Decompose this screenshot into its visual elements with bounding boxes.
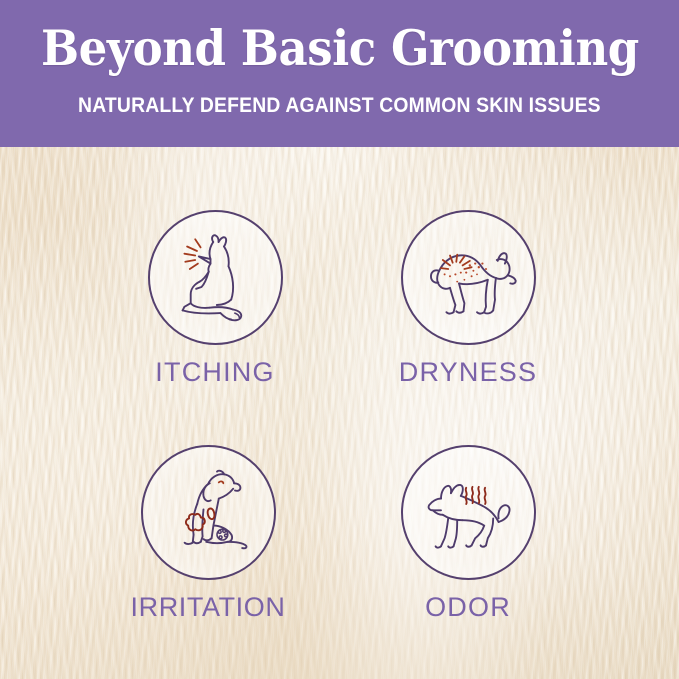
feature-item-irritation: IRRITATION	[88, 445, 328, 621]
icon-badge-irritation	[141, 445, 276, 580]
icon-badge-odor	[401, 445, 536, 580]
feature-item-itching: ITCHING	[95, 210, 335, 386]
feature-grid: ITCHING	[0, 147, 679, 679]
dog-irritated-skin-icon	[154, 459, 262, 567]
dog-odor-icon	[414, 459, 522, 567]
feature-label-odor: ODOR	[348, 594, 588, 621]
icon-badge-itching	[148, 210, 283, 345]
feature-label-irritation: IRRITATION	[88, 594, 328, 621]
page-title: Beyond Basic Grooming	[41, 24, 639, 73]
header-banner: Beyond Basic Grooming NATURALLY DEFEND A…	[0, 0, 679, 147]
icon-badge-dryness	[401, 210, 536, 345]
feature-label-dryness: DRYNESS	[348, 359, 588, 386]
feature-label-itching: ITCHING	[95, 359, 335, 386]
feature-item-dryness: DRYNESS	[348, 210, 588, 386]
feature-item-odor: ODOR	[348, 445, 588, 621]
grooming-infographic: Beyond Basic Grooming NATURALLY DEFEND A…	[0, 0, 679, 679]
page-subtitle: NATURALLY DEFEND AGAINST COMMON SKIN ISS…	[78, 95, 601, 117]
dog-flaky-skin-icon	[414, 224, 522, 332]
dog-scratching-icon	[161, 224, 269, 332]
